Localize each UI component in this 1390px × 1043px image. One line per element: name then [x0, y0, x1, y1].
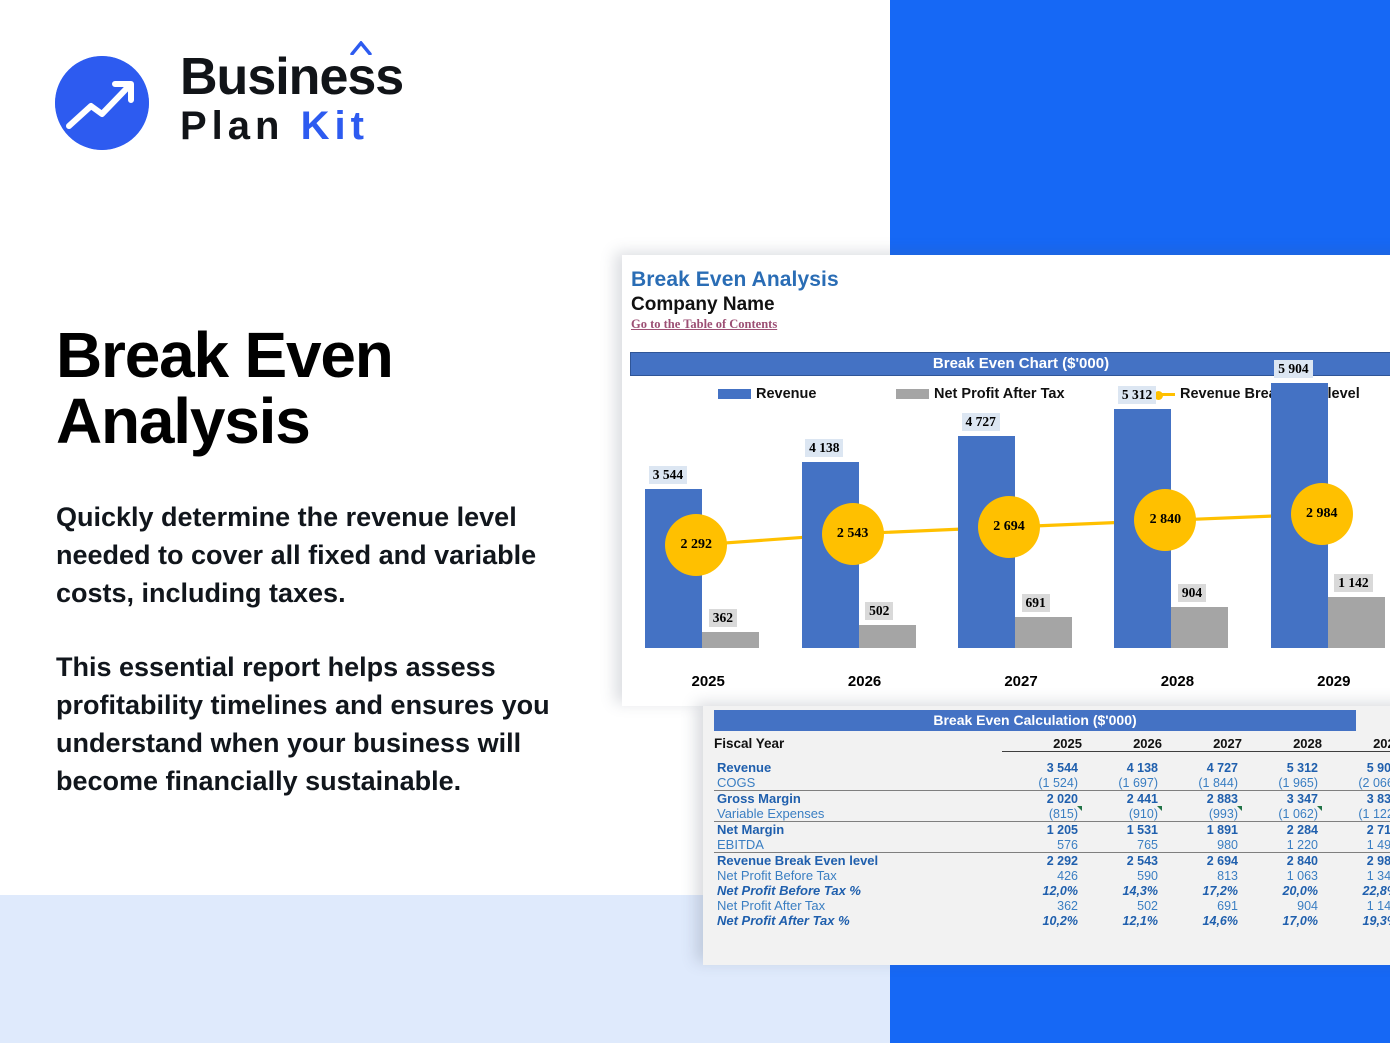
cell-2025: 1 205: [1002, 822, 1082, 838]
bar-npat-2027: [1015, 617, 1072, 648]
cell-2029: 1 343: [1322, 868, 1390, 883]
row-label-net-profit-after-tax: Net Profit After Tax %: [714, 913, 1002, 928]
legend-swatch-revenue: [718, 389, 751, 399]
header-fiscal-year: Fiscal Year: [714, 736, 1002, 752]
break-even-marker-2029: 2 984: [1291, 483, 1353, 545]
cell-2025: 576: [1002, 837, 1082, 853]
row-label-net-profit-before-tax: Net Profit Before Tax %: [714, 883, 1002, 898]
cell-2028: (1 965): [1242, 775, 1322, 791]
bar-npat-2026: [859, 625, 916, 648]
table-row: Revenue Break Even level2 2922 5432 6942…: [714, 853, 1390, 869]
cell-2025: 2 292: [1002, 853, 1082, 869]
logo-business-text: Business: [180, 48, 403, 106]
cell-2029: 1 490: [1322, 837, 1390, 853]
sheet-title: Break Even Analysis: [631, 268, 839, 292]
break-even-chart-card: Break Even Analysis Company Name Go to t…: [622, 255, 1390, 706]
cell-2027: 2 883: [1162, 791, 1242, 807]
cell-2025: 362: [1002, 898, 1082, 913]
cell-2027: 980: [1162, 837, 1242, 853]
data-label-revenue-2028: 5 312: [1118, 386, 1156, 404]
hero-paragraph-1: Quickly determine the revenue level need…: [56, 498, 556, 612]
brand-logo: Business Plan Kit: [55, 50, 455, 160]
row-label-gross-margin: Gross Margin: [714, 791, 1002, 807]
row-label-net-margin: Net Margin: [714, 822, 1002, 838]
cell-2025: 426: [1002, 868, 1082, 883]
cell-2027: 4 727: [1162, 760, 1242, 775]
cell-2025: 3 544: [1002, 760, 1082, 775]
cell-2026: 590: [1082, 868, 1162, 883]
table-row: Gross Margin2 0202 4412 8833 3473 838: [714, 791, 1390, 807]
cell-2028: 904: [1242, 898, 1322, 913]
cell-2029: 1 142: [1322, 898, 1390, 913]
bar-npat-2028: [1171, 607, 1228, 648]
header-year-2027: 2027: [1162, 736, 1242, 752]
row-label-net-profit-after-tax: Net Profit After Tax: [714, 898, 1002, 913]
table-row: Net Profit Before Tax %12,0%14,3%17,2%20…: [714, 883, 1390, 898]
cell-2025: 2 020: [1002, 791, 1082, 807]
legend-item-npat[interactable]: Net Profit After Tax: [896, 383, 1065, 405]
company-name: Company Name: [631, 294, 775, 316]
data-label-npat-2026: 502: [865, 602, 893, 620]
cell-2025: 12,0%: [1002, 883, 1082, 898]
bar-npat-2025: [702, 632, 759, 648]
table-spacer-row: [714, 752, 1390, 761]
cell-2028: 3 347: [1242, 791, 1322, 807]
break-even-table: Fiscal Year 2025 2026 2027 2028 2029 Rev…: [714, 736, 1390, 928]
header-year-2026: 2026: [1082, 736, 1162, 752]
cell-2026: 765: [1082, 837, 1162, 853]
logo-word-business: Business: [180, 50, 403, 104]
legend-label-npat: Net Profit After Tax: [934, 386, 1065, 402]
hero-paragraph-2: This essential report helps assess profi…: [56, 648, 576, 800]
header-year-2025: 2025: [1002, 736, 1082, 752]
data-label-npat-2025: 362: [709, 609, 737, 627]
row-label-ebitda: EBITDA: [714, 837, 1002, 853]
cell-2028: 5 312: [1242, 760, 1322, 775]
legend-item-revenue[interactable]: Revenue: [718, 383, 816, 405]
cell-2025: (815): [1002, 806, 1082, 822]
break-even-marker-2026: 2 543: [822, 503, 884, 565]
cell-2026: 4 138: [1082, 760, 1162, 775]
cell-2026: 502: [1082, 898, 1162, 913]
cell-2028: 17,0%: [1242, 913, 1322, 928]
table-header: Fiscal Year 2025 2026 2027 2028 2029: [714, 736, 1390, 752]
cell-2027: (993): [1162, 806, 1242, 822]
cell-2026: 1 531: [1082, 822, 1162, 838]
data-label-npat-2028: 904: [1178, 584, 1206, 602]
break-even-marker-2027: 2 694: [978, 496, 1040, 558]
cell-2029: (2 066): [1322, 775, 1390, 791]
break-even-marker-2025: 2 292: [665, 514, 727, 576]
cell-2028: 2 284: [1242, 822, 1322, 838]
data-label-npat-2027: 691: [1022, 594, 1050, 612]
cell-2028: 20,0%: [1242, 883, 1322, 898]
break-even-marker-2028: 2 840: [1134, 489, 1196, 551]
header-year-2029: 2029: [1322, 736, 1390, 752]
table-row: EBITDA5767659801 2201 490: [714, 837, 1390, 853]
cell-2025: (1 524): [1002, 775, 1082, 791]
chart-plot-area: 3 54436220254 13850220264 72769120275 31…: [630, 415, 1390, 700]
logo-kit-text: Kit: [301, 104, 369, 148]
x-axis-label-2026: 2026: [815, 673, 915, 690]
cell-2026: (1 697): [1082, 775, 1162, 791]
table-header-row: Fiscal Year 2025 2026 2027 2028 2029: [714, 736, 1390, 752]
bar-npat-2029: [1328, 597, 1385, 648]
cell-2027: 14,6%: [1162, 913, 1242, 928]
cell-2029: 3 838: [1322, 791, 1390, 807]
cell-2026: 12,1%: [1082, 913, 1162, 928]
x-axis-label-2025: 2025: [658, 673, 758, 690]
table-row: Net Profit After Tax3625026919041 142: [714, 898, 1390, 913]
cell-2028: (1 062): [1242, 806, 1322, 822]
table-body: Revenue3 5444 1384 7275 3125 904COGS(1 5…: [714, 752, 1390, 929]
cell-2029: 22,8%: [1322, 883, 1390, 898]
cell-2027: 17,2%: [1162, 883, 1242, 898]
cell-2025: 10,2%: [1002, 913, 1082, 928]
table-row: Net Profit Before Tax4265908131 0631 343: [714, 868, 1390, 883]
cell-2028: 1 063: [1242, 868, 1322, 883]
growth-arrow-icon: [55, 56, 149, 150]
x-axis-label-2029: 2029: [1284, 673, 1384, 690]
cell-2027: 813: [1162, 868, 1242, 883]
data-label-npat-2029: 1 142: [1334, 574, 1372, 592]
table-banner: Break Even Calculation ($'000): [714, 710, 1356, 731]
row-label-revenue: Revenue: [714, 760, 1002, 775]
data-label-revenue-2025: 3 544: [649, 466, 687, 484]
cell-2027: (1 844): [1162, 775, 1242, 791]
row-label-variable-expenses: Variable Expenses: [714, 806, 1002, 822]
row-label-revenue-break-even-level: Revenue Break Even level: [714, 853, 1002, 869]
data-label-revenue-2027: 4 727: [962, 413, 1000, 431]
table-row: Net Profit After Tax %10,2%12,1%14,6%17,…: [714, 913, 1390, 928]
legend-swatch-npat: [896, 389, 929, 399]
cell-2028: 1 220: [1242, 837, 1322, 853]
logo-word-plan-kit: Plan Kit: [180, 104, 403, 148]
circumflex-accent-icon: [350, 41, 372, 55]
cell-2027: 1 891: [1162, 822, 1242, 838]
cell-2026: 2 543: [1082, 853, 1162, 869]
cell-2026: (910): [1082, 806, 1162, 822]
x-axis-label-2027: 2027: [971, 673, 1071, 690]
table-row: COGS(1 524)(1 697)(1 844)(1 965)(2 066): [714, 775, 1390, 791]
cell-2029: 5 904: [1322, 760, 1390, 775]
logo-plan-text: Plan: [180, 104, 284, 148]
cell-2029: 19,3%: [1322, 913, 1390, 928]
cell-2029: 2 984: [1322, 853, 1390, 869]
cell-2026: 2 441: [1082, 791, 1162, 807]
header-year-2028: 2028: [1242, 736, 1322, 752]
data-label-revenue-2026: 4 138: [805, 439, 843, 457]
break-even-calculation-card: Break Even Calculation ($'000) Fiscal Ye…: [703, 706, 1390, 965]
page-title: Break Even Analysis: [56, 322, 576, 454]
x-axis-label-2028: 2028: [1127, 673, 1227, 690]
table-row: Variable Expenses(815)(910)(993)(1 062)(…: [714, 806, 1390, 822]
cell-2029: (1 122): [1322, 806, 1390, 822]
cell-2028: 2 840: [1242, 853, 1322, 869]
table-row: Net Margin1 2051 5311 8912 2842 716: [714, 822, 1390, 838]
cell-2027: 691: [1162, 898, 1242, 913]
table-of-contents-link[interactable]: Go to the Table of Contents: [631, 317, 777, 332]
cell-2027: 2 694: [1162, 853, 1242, 869]
table-row: Revenue3 5444 1384 7275 3125 904: [714, 760, 1390, 775]
row-label-cogs: COGS: [714, 775, 1002, 791]
legend-label-revenue: Revenue: [756, 386, 816, 402]
data-label-revenue-2029: 5 904: [1274, 360, 1312, 378]
row-label-net-profit-before-tax: Net Profit Before Tax: [714, 868, 1002, 883]
cell-2029: 2 716: [1322, 822, 1390, 838]
cell-2026: 14,3%: [1082, 883, 1162, 898]
